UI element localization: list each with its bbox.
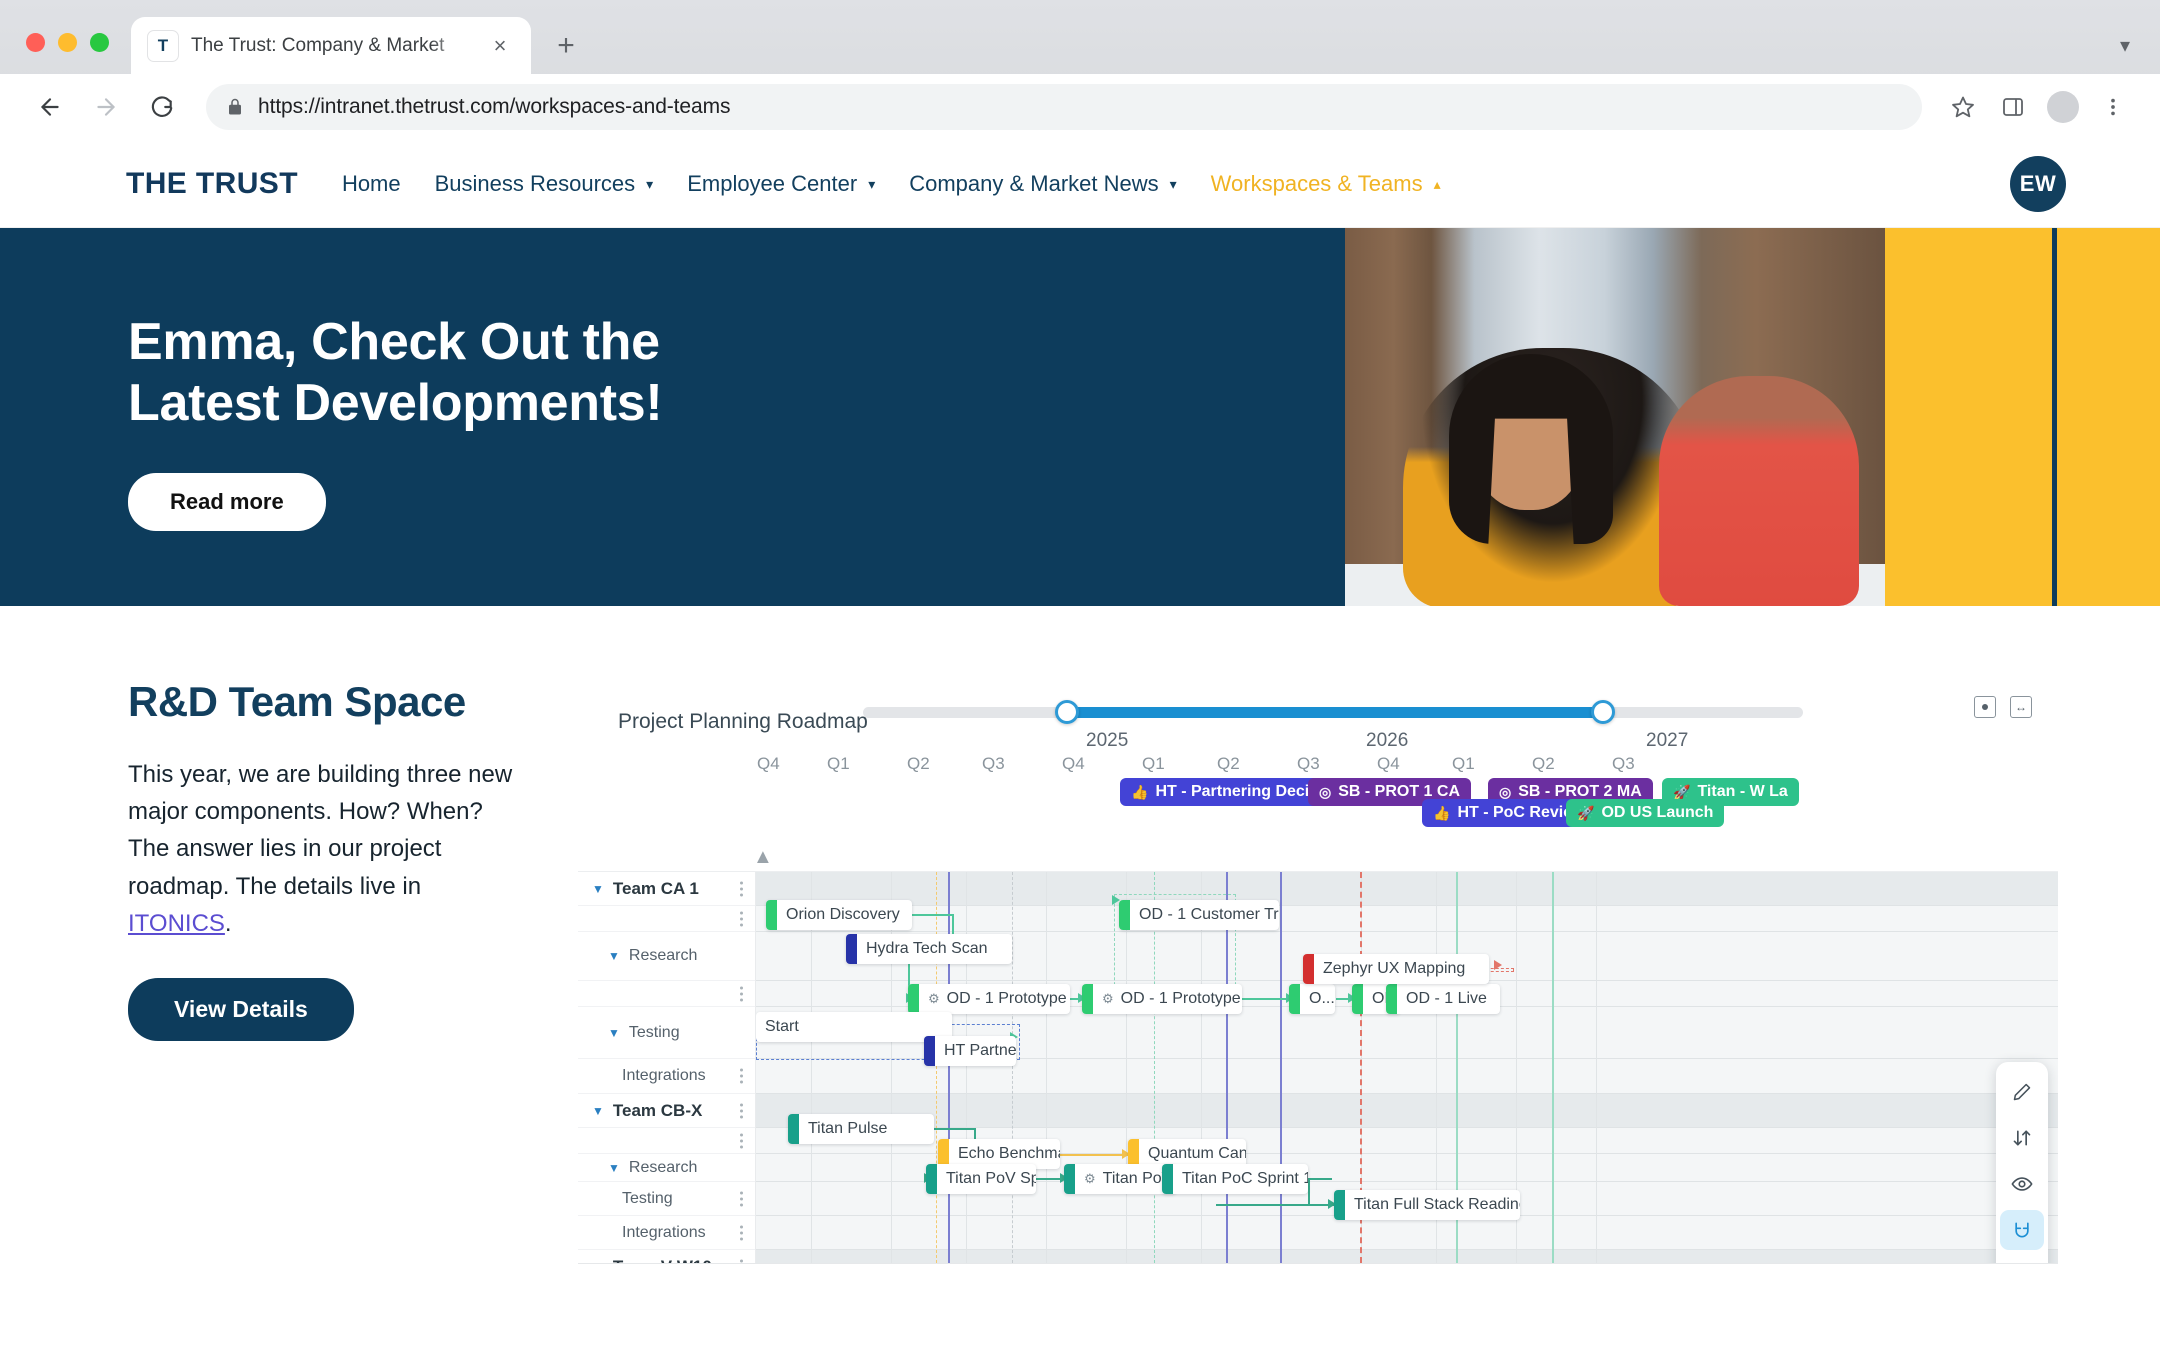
milestone-icon: ◎ — [1499, 784, 1511, 801]
quarter-label: Q4 — [1377, 754, 1400, 774]
gantt-task-bar[interactable]: Titan Pulse — [788, 1114, 934, 1144]
slider-selected-range — [1063, 707, 1607, 718]
year-label: 2026 — [1366, 730, 1408, 752]
caret-down-icon[interactable]: ▼ — [592, 1104, 604, 1118]
read-more-button[interactable]: Read more — [128, 473, 326, 531]
gantt-task-bar[interactable]: HT Partner... — [924, 1036, 1016, 1066]
roadmap-side-toolbar — [1996, 1062, 2048, 1264]
task-color-swatch — [1352, 984, 1363, 1014]
section-description: This year, we are building three new maj… — [128, 756, 518, 942]
task-color-swatch — [1162, 1164, 1173, 1194]
task-color-swatch — [1119, 900, 1130, 930]
row-label-testing[interactable]: Testing — [578, 1182, 755, 1216]
row-label-integrations[interactable]: Integrations — [578, 1216, 755, 1250]
milestone-icon: 🚀 — [1577, 805, 1594, 822]
nav-label: Home — [342, 171, 401, 197]
gantt-task-bar[interactable]: O... — [1289, 984, 1335, 1014]
gantt-task-bar[interactable]: Hydra Tech Scan — [846, 934, 1012, 964]
row-label-text: Team CB-X — [613, 1101, 702, 1121]
quarter-label: Q2 — [1217, 754, 1240, 774]
nav-label: Business Resources — [435, 171, 636, 197]
caret-down-icon[interactable]: ▼ — [608, 949, 620, 963]
gantt-task-bar[interactable]: ⚙OD - 1 Prototype Design — [908, 984, 1070, 1014]
quarter-label: Q4 — [757, 754, 780, 774]
page-title: R&D Team Space — [128, 678, 518, 726]
timeline-marker-line — [936, 872, 938, 1263]
hero-accent-block-2 — [2057, 228, 2160, 606]
grid-line — [811, 872, 812, 1263]
task-label: Titan PoC Sprint 1 — [1182, 1170, 1308, 1188]
quarter-label: Q3 — [982, 754, 1005, 774]
row-menu-icon[interactable] — [740, 1259, 743, 1264]
gantt-task-bar[interactable]: Start — [756, 1012, 952, 1042]
gantt-task-bar[interactable]: Zephyr UX Mapping — [1303, 954, 1489, 984]
chevron-up-icon: ▴ — [1434, 177, 1441, 191]
row-label-column: ▼Team CA 1▼Research▼TestingIntegrations▼… — [578, 872, 756, 1263]
tab-favicon: T — [147, 30, 179, 62]
row-menu-icon[interactable] — [740, 986, 743, 1001]
quarter-label: Q1 — [1142, 754, 1165, 774]
task-label: Hydra Tech Scan — [866, 940, 988, 958]
dependency-connector — [1060, 1154, 1128, 1156]
browser-tab[interactable]: T The Trust: Company & Market × — [131, 17, 531, 74]
caret-down-icon[interactable]: ▼ — [608, 1161, 620, 1175]
site-navigation: THE TRUST Home Business Resources ▾ Empl… — [0, 140, 2160, 228]
task-label: OD - 1 Prototype Design — [947, 990, 1070, 1008]
task-label-wrap: Titan Pulse — [799, 1120, 897, 1138]
row-label-testing[interactable]: ▼Testing — [578, 1007, 755, 1059]
caret-down-icon[interactable]: ▼ — [592, 1260, 604, 1265]
chevron-down-icon: ▾ — [868, 177, 875, 191]
chevron-down-icon[interactable]: ▾ — [2120, 33, 2130, 58]
timeline-quarters: Q4Q1Q2Q3Q4Q1Q2Q3Q4Q1Q2Q3 — [578, 754, 2058, 778]
task-label: Titan Pulse — [808, 1120, 887, 1138]
timeline-marker-line — [1552, 872, 1554, 1263]
gantt-task-bar[interactable]: ⚙OD - 1 Prototype Demo... — [1082, 984, 1242, 1014]
task-color-swatch — [1334, 1190, 1345, 1220]
task-label-wrap: Titan PoV Spri... — [937, 1170, 1036, 1188]
browser-toolbar: https://intranet.thetrust.com/workspaces… — [0, 74, 2160, 140]
task-label-wrap: Quantum Canvas — [1139, 1145, 1246, 1163]
dependency-connector — [912, 914, 954, 916]
milestone-icon: 🚀 — [1673, 784, 1690, 801]
hero-title: Emma, Check Out the Latest Developments! — [128, 312, 1345, 435]
task-color-swatch — [1386, 984, 1397, 1014]
task-label: Titan PoV Spri... — [946, 1170, 1036, 1188]
quarter-label: Q1 — [1452, 754, 1475, 774]
quarter-label: Q4 — [1062, 754, 1085, 774]
task-label-wrap: ⚙OD - 1 Prototype Demo... — [1093, 990, 1242, 1008]
task-color-swatch — [766, 900, 777, 930]
task-label-wrap: Start — [756, 1018, 809, 1036]
task-label-wrap: OD - 1 Customer Trends — [1130, 906, 1279, 924]
quarter-label: Q3 — [1297, 754, 1320, 774]
gantt-task-bar[interactable]: Titan PoV Spri... — [926, 1164, 1036, 1194]
grid-band — [756, 1250, 2058, 1263]
nav-item-home[interactable]: Home — [342, 171, 401, 197]
grid-line — [1596, 872, 1597, 1263]
address-bar[interactable]: https://intranet.thetrust.com/workspaces… — [206, 84, 1922, 130]
row-label-text: Integrations — [622, 1224, 706, 1242]
task-color-swatch — [788, 1114, 799, 1144]
gantt-task-bar[interactable]: OD - 1 Live — [1386, 984, 1500, 1014]
task-label-wrap: ⚙OD - 1 Prototype Design — [919, 990, 1070, 1008]
row-menu-icon[interactable] — [740, 1069, 743, 1084]
side-panel-icon[interactable] — [1992, 86, 2034, 128]
milestone-row: 👍HT - Partnering Decision◎SB - PROT 1 CA… — [578, 778, 2058, 840]
close-tab-icon[interactable]: × — [485, 31, 515, 61]
gantt-task-bar[interactable]: Orion Discovery — [766, 900, 912, 930]
milestone-label: OD US Launch — [1601, 804, 1713, 822]
gantt-task-bar[interactable]: Titan Full Stack Readiness — [1334, 1190, 1520, 1220]
task-label-wrap: Echo Benchmark — [949, 1145, 1060, 1163]
row-label-research[interactable]: ▼Research — [578, 1154, 755, 1182]
grid-band — [756, 872, 2058, 906]
task-type-icon: ⚙ — [1084, 1171, 1096, 1187]
roadmap-widget: Project Planning Roadmap ↔ 202520262027 … — [578, 678, 2058, 1298]
dependency-connector — [1242, 998, 1290, 1000]
browser-menu-icon[interactable] — [2092, 86, 2134, 128]
itonics-link[interactable]: ITONICS — [128, 910, 225, 937]
grid-line — [891, 872, 892, 1263]
back-icon[interactable] — [26, 83, 74, 131]
view-details-button[interactable]: View Details — [128, 978, 354, 1041]
row-menu-icon[interactable] — [740, 881, 743, 896]
task-color-swatch — [1303, 954, 1314, 984]
row-menu-icon[interactable] — [740, 1133, 743, 1148]
roadmap-body: Orion DiscoveryHydra Tech ScanOD - 1 Cus… — [578, 872, 2058, 1264]
nav-item-workspaces-teams[interactable]: Workspaces & Teams ▴ — [1211, 171, 1441, 197]
url-text: https://intranet.thetrust.com/workspaces… — [258, 95, 730, 119]
lock-icon — [226, 98, 244, 116]
row-label-text: Research — [629, 947, 697, 965]
grid-line — [966, 872, 967, 1263]
caret-down-icon[interactable]: ▼ — [592, 882, 604, 896]
task-type-icon: ⚙ — [928, 991, 940, 1007]
gantt-task-bar[interactable]: ⚙Titan PoV... — [1064, 1164, 1176, 1194]
row-label-spacer[interactable] — [578, 981, 755, 1007]
nav-item-business-resources[interactable]: Business Resources ▾ — [435, 171, 654, 197]
browser-chrome: T The Trust: Company & Market × + ▾ http… — [0, 0, 2160, 140]
hero-title-line1: Emma, Check Out the — [128, 312, 1345, 373]
row-label-team-ca-1[interactable]: ▼Team CA 1 — [578, 872, 755, 906]
sort-icon[interactable] — [2000, 1118, 2044, 1158]
slider-handle-end[interactable] — [1591, 700, 1615, 724]
task-label: Orion Discovery — [786, 906, 900, 924]
hero-accent-block-1 — [1885, 228, 2052, 606]
row-label-text: Testing — [629, 1024, 680, 1042]
row-label-text: Integrations — [622, 1067, 706, 1085]
task-label-wrap: Titan PoC Sprint 1 — [1173, 1170, 1308, 1188]
hero-media — [1345, 228, 2160, 606]
task-label: Zephyr UX Mapping — [1323, 960, 1465, 978]
task-label: OD - 1 Live — [1406, 990, 1487, 1008]
timeline-grid: Orion DiscoveryHydra Tech ScanOD - 1 Cus… — [756, 872, 2058, 1263]
roadmap-header-icons: ↔ — [1974, 696, 2032, 718]
milestone-badge[interactable]: 🚀OD US Launch — [1566, 799, 1724, 827]
row-label-team-v-w10[interactable]: ▼Team V-W10 — [578, 1250, 755, 1264]
new-tab-icon[interactable]: + — [545, 25, 587, 67]
milestone-icon: 👍 — [1433, 805, 1450, 822]
task-color-swatch — [908, 984, 919, 1014]
task-label: Quantum Canvas — [1148, 1145, 1246, 1163]
hero-content: Emma, Check Out the Latest Developments!… — [0, 228, 1345, 606]
dependency-connector — [1308, 1178, 1332, 1180]
row-label-research[interactable]: ▼Research — [578, 932, 755, 981]
grid-band — [756, 1216, 2058, 1250]
task-label: O... — [1309, 990, 1335, 1008]
timeline-years: 202520262027 — [578, 730, 2058, 754]
task-label-wrap: Zephyr UX Mapping — [1314, 960, 1475, 978]
team-space-column: R&D Team Space This year, we are buildin… — [0, 678, 560, 1210]
task-label: OD - 1 Prototype Demo... — [1121, 990, 1242, 1008]
hero-banner: Emma, Check Out the Latest Developments!… — [0, 228, 2160, 606]
focus-center-icon[interactable] — [1974, 696, 1996, 718]
gantt-task-bar[interactable]: Titan PoC Sprint 1 — [1162, 1164, 1308, 1194]
magnet-icon[interactable] — [2000, 1210, 2044, 1250]
dependency-connector — [1308, 1178, 1310, 1204]
year-label: 2027 — [1646, 730, 1688, 752]
row-menu-icon[interactable] — [740, 911, 743, 926]
quarter-label: Q3 — [1612, 754, 1635, 774]
description-text-2: . — [225, 910, 232, 937]
chevron-up-icon[interactable]: ▲ — [753, 846, 773, 869]
hero-title-line2: Latest Developments! — [128, 373, 1345, 434]
year-label: 2025 — [1086, 730, 1128, 752]
task-label-wrap: OD - 1 Live — [1397, 990, 1497, 1008]
dependency-connector — [934, 1128, 976, 1130]
task-color-swatch — [924, 1036, 935, 1066]
reload-icon[interactable] — [138, 83, 186, 131]
task-color-swatch — [1289, 984, 1300, 1014]
window-controls — [26, 33, 109, 74]
chevron-down-icon: ▾ — [1170, 177, 1177, 191]
row-label-text: Team CA 1 — [613, 879, 699, 899]
slider-handle-start[interactable] — [1055, 700, 1079, 724]
pencil-icon[interactable] — [2000, 1072, 2044, 1112]
row-label-spacer[interactable] — [578, 906, 755, 932]
task-color-swatch — [926, 1164, 937, 1194]
row-menu-icon[interactable] — [740, 1191, 743, 1206]
task-color-swatch — [1064, 1164, 1075, 1194]
task-label-wrap: Titan Full Stack Readiness — [1345, 1196, 1520, 1214]
task-label: HT Partner... — [944, 1042, 1016, 1060]
task-label-wrap: Orion Discovery — [777, 906, 910, 924]
quarter-label: Q1 — [827, 754, 850, 774]
task-label: OD - 1 Customer Trends — [1139, 906, 1279, 924]
nav-items: Home Business Resources ▾ Employee Cente… — [342, 171, 1441, 197]
chevron-down-icon: ▾ — [646, 177, 653, 191]
nav-label: Workspaces & Teams — [1211, 171, 1423, 197]
profile-avatar-icon[interactable] — [2042, 86, 2084, 128]
task-color-swatch — [1082, 984, 1093, 1014]
quarter-label: Q2 — [1532, 754, 1555, 774]
milestone-icon: 👍 — [1131, 784, 1148, 801]
nav-item-employee-center[interactable]: Employee Center ▾ — [687, 171, 875, 197]
forward-icon[interactable] — [82, 83, 130, 131]
task-label-wrap: Hydra Tech Scan — [857, 940, 998, 958]
caret-down-icon[interactable]: ▼ — [608, 1026, 620, 1040]
grid-band — [756, 1094, 2058, 1128]
bookmark-star-icon[interactable] — [1942, 86, 1984, 128]
nav-item-company-market-news[interactable]: Company & Market News ▾ — [909, 171, 1176, 197]
nav-label: Company & Market News — [909, 171, 1158, 197]
info-icon[interactable] — [2000, 1256, 2044, 1264]
milestone-icon: ◎ — [1319, 784, 1331, 801]
row-label-team-cb-x[interactable]: ▼Team CB-X — [578, 1094, 755, 1128]
dependency-arrow — [1494, 960, 1502, 970]
roadmap-header: Project Planning Roadmap ↔ 202520262027 … — [578, 678, 2058, 778]
eye-icon[interactable] — [2000, 1164, 2044, 1204]
row-menu-icon[interactable] — [740, 1103, 743, 1118]
gantt-task-bar[interactable]: OD - 1 Customer Trends — [1119, 900, 1279, 930]
task-label-wrap: O... — [1300, 990, 1335, 1008]
timeline-range-slider[interactable] — [863, 700, 1803, 724]
task-label-wrap: HT Partner... — [935, 1042, 1016, 1060]
task-type-icon: ⚙ — [1102, 991, 1114, 1007]
row-label-text: Testing — [622, 1190, 673, 1208]
user-avatar[interactable]: EW — [2010, 156, 2066, 212]
browser-titlebar: T The Trust: Company & Market × + ▾ — [0, 0, 2160, 74]
quarter-label: Q2 — [907, 754, 930, 774]
site-logo[interactable]: THE TRUST — [126, 167, 298, 201]
nav-label: Employee Center — [687, 171, 857, 197]
description-text-1: This year, we are building three new maj… — [128, 761, 512, 900]
row-label-spacer[interactable] — [578, 1128, 755, 1154]
hero-photo — [1345, 228, 1885, 606]
task-label: Start — [765, 1018, 799, 1036]
maximize-window-button[interactable] — [90, 33, 109, 52]
row-label-text: Team V-W10 — [613, 1257, 712, 1265]
dependency-connector — [1216, 1204, 1334, 1206]
task-label: Titan Full Stack Readiness — [1354, 1196, 1520, 1214]
grid-line — [1046, 872, 1047, 1263]
tab-title: The Trust: Company & Market — [191, 35, 473, 57]
timeline-marker-line — [948, 872, 950, 1263]
collapse-bar: ▲ — [578, 840, 2058, 872]
row-label-text: Research — [629, 1159, 697, 1177]
task-label-wrap: ⚙Titan PoV... — [1075, 1170, 1176, 1188]
minimize-window-button[interactable] — [58, 33, 77, 52]
fit-to-screen-icon[interactable]: ↔ — [2010, 696, 2032, 718]
main-content: R&D Team Space This year, we are buildin… — [0, 606, 2160, 1210]
timeline-marker-line — [1012, 872, 1014, 1263]
row-label-integrations[interactable]: Integrations — [578, 1059, 755, 1094]
task-color-swatch — [846, 934, 857, 964]
row-menu-icon[interactable] — [740, 1225, 743, 1240]
task-label: Echo Benchmark — [958, 1145, 1060, 1163]
close-window-button[interactable] — [26, 33, 45, 52]
